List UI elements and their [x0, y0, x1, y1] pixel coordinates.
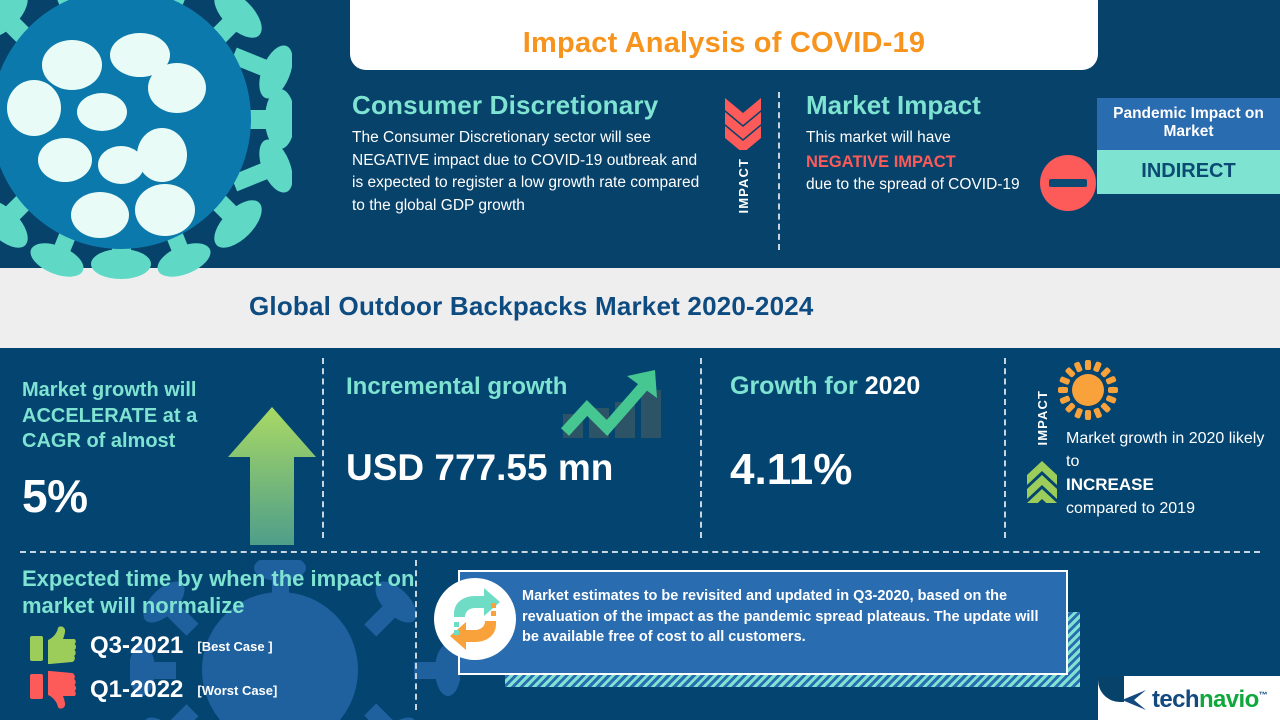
pandemic-impact-heading: Pandemic Impact on Market — [1097, 98, 1280, 150]
growth-2020-label-b: 2020 — [865, 372, 921, 400]
best-case-quarter: Q3-2021 — [90, 632, 183, 660]
logo-trademark: ™ — [1259, 690, 1267, 700]
pandemic-impact-value: INDIRECT — [1097, 150, 1280, 194]
best-case-label: [Best Case ] — [197, 639, 272, 654]
market-impact-heading: Market Impact — [806, 90, 1021, 121]
market-name-title: Global Outdoor Backpacks Market 2020-202… — [249, 291, 814, 322]
cagr-stat: Market growth will ACCELERATE at a CAGR … — [22, 378, 237, 523]
impact-rail-negative: IMPACT — [722, 98, 764, 213]
divider-vertical-2 — [322, 358, 324, 538]
chevron-down-triple-icon — [723, 98, 763, 150]
pandemic-impact-panel: Pandemic Impact on Market INDIRECT — [1097, 98, 1280, 194]
page-title: Impact Analysis of COVID-19 — [523, 27, 925, 70]
right-impact-line2: compared to 2019 — [1066, 500, 1195, 517]
technavio-mark-icon — [1122, 689, 1148, 711]
incremental-growth-value: USD 777.55 mn — [346, 447, 606, 489]
market-impact-block: Market Impact This market will have NEGA… — [806, 90, 1021, 197]
normalize-heading: Expected time by when the impact on mark… — [22, 566, 432, 620]
worst-case-label: [Worst Case] — [197, 683, 277, 698]
growth-2020-value: 4.11% — [730, 445, 990, 495]
covid-virus-icon — [0, 0, 292, 310]
thumbs-up-icon — [30, 626, 76, 666]
right-impact-line1: Market growth in 2020 likely to — [1066, 430, 1264, 470]
worst-case-quarter: Q1-2022 — [90, 676, 183, 704]
consumer-discretionary-block: Consumer Discretionary The Consumer Disc… — [352, 90, 712, 218]
divider-vertical-1 — [778, 92, 780, 250]
virus-sun-icon — [1058, 360, 1118, 420]
logo-text-tech: tech — [1152, 686, 1199, 713]
infographic-root: Impact Analysis of COVID-19 Consumer Dis… — [0, 0, 1280, 720]
no-entry-icon — [1040, 155, 1096, 211]
divider-horizontal-1 — [20, 551, 1260, 553]
up-arrow-icon — [226, 405, 318, 545]
note-text: Market estimates to be revisited and upd… — [522, 586, 1050, 648]
divider-vertical-5 — [415, 560, 417, 710]
header-title-plate: Impact Analysis of COVID-19 — [350, 0, 1098, 70]
refresh-cycle-icon — [434, 578, 516, 660]
refresh-cycle-badge — [434, 578, 516, 660]
best-case-row: Q3-2021 [Best Case ] — [30, 626, 273, 666]
chevron-up-triple-icon — [1025, 451, 1059, 503]
cagr-value: 5% — [22, 469, 237, 523]
divider-vertical-3 — [700, 358, 702, 538]
worst-case-row: Q1-2022 [Worst Case] — [30, 670, 277, 710]
logo-text-navio: navio — [1199, 686, 1259, 713]
consumer-discretionary-heading: Consumer Discretionary — [352, 90, 712, 121]
impact-rail-positive: IMPACT — [1022, 390, 1062, 503]
growth-2020-stat: Growth for 2020 4.11% — [730, 372, 990, 495]
divider-vertical-4 — [1004, 358, 1006, 538]
right-impact-note: Market growth in 2020 likely to INCREASE… — [1066, 428, 1266, 521]
technavio-logo[interactable]: technavio™ — [1122, 686, 1267, 714]
impact-label-right: IMPACT — [1035, 390, 1050, 445]
thumbs-down-icon — [30, 670, 76, 710]
market-impact-line2: due to the spread of COVID-19 — [806, 176, 1020, 193]
consumer-discretionary-body: The Consumer Discretionary sector will s… — [352, 127, 712, 218]
growth-2020-label-a: Growth for — [730, 372, 865, 400]
growth-chart-icon — [557, 366, 667, 442]
cagr-label: Market growth will ACCELERATE at a CAGR … — [22, 378, 237, 455]
impact-label-left: IMPACT — [736, 158, 751, 213]
right-impact-emphasis: INCREASE — [1066, 475, 1154, 494]
market-impact-emphasis: NEGATIVE IMPACT — [806, 153, 956, 171]
market-impact-line1: This market will have — [806, 129, 951, 146]
note-box: Market estimates to be revisited and upd… — [458, 570, 1068, 675]
